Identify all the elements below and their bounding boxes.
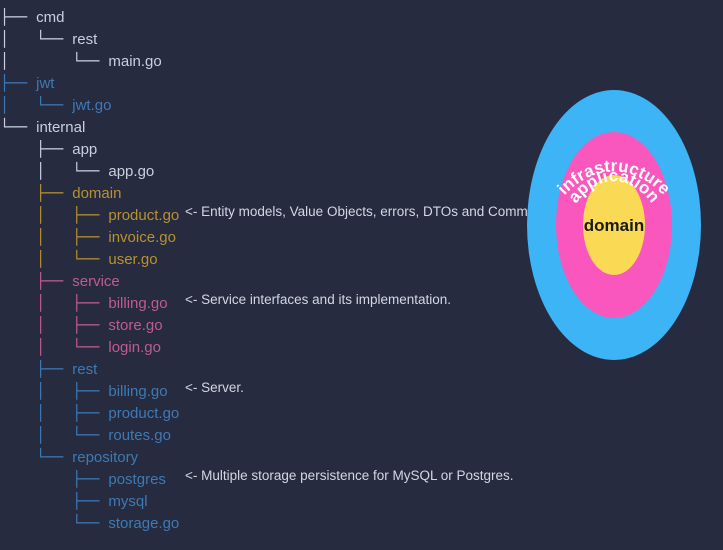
tree-node-label[interactable]: user.go: [108, 249, 157, 271]
tree-node-label[interactable]: product.go: [108, 403, 179, 425]
ring-label-domain: domain: [584, 216, 644, 235]
tree-row-line: │ └── rest: [0, 28, 540, 50]
tree-row-line: │ └── login.go: [0, 336, 540, 358]
tree-row-line: │ ├── product.go: [0, 402, 540, 424]
tree-node-label[interactable]: storage.go: [108, 513, 179, 535]
tree-branch-connector: │ └──: [0, 160, 108, 182]
tree-node-label[interactable]: mysql: [108, 491, 147, 513]
tree-row-line: │ ├── store.go: [0, 314, 540, 336]
tree-branch-connector: └──: [0, 116, 36, 138]
tree-row: │ └── user.go: [0, 248, 540, 270]
tree-row-line: │ ├── product.go: [0, 204, 540, 226]
tree-row-line: ├── service: [0, 270, 540, 292]
diagram-canvas: ├── cmd│ └── rest│ └── main.go├── jwt│ └…: [0, 0, 723, 550]
tree-row-line: │ └── main.go: [0, 50, 540, 72]
tree-row: │ └── routes.go: [0, 424, 540, 446]
onion-architecture-diagram: infrastructure application domain: [505, 55, 723, 375]
tree-row-line: ├── postgres: [0, 468, 540, 490]
tree-branch-connector: └──: [0, 512, 108, 534]
tree-node-label[interactable]: cmd: [36, 7, 64, 29]
tree-row-line: ├── domain: [0, 182, 540, 204]
tree-row-line: │ ├── invoice.go: [0, 226, 540, 248]
tree-row: └── storage.go: [0, 512, 540, 534]
tree-branch-connector: │ └──: [0, 424, 108, 446]
tree-branch-connector: │ └──: [0, 94, 72, 116]
tree-row: ├── cmd: [0, 6, 540, 28]
tree-branch-connector: │ ├──: [0, 314, 108, 336]
tree-node-label[interactable]: main.go: [108, 51, 161, 73]
tree-branch-connector: │ ├──: [0, 380, 108, 402]
tree-branch-connector: ├──: [0, 6, 36, 28]
tree-row: │ └── login.go: [0, 336, 540, 358]
tree-row: └── internal: [0, 116, 540, 138]
tree-row: ├── jwt: [0, 72, 540, 94]
tree-row: │ └── app.go: [0, 160, 540, 182]
tree-row-line: └── storage.go: [0, 512, 540, 534]
tree-row: │ └── main.go: [0, 50, 540, 72]
tree-branch-connector: │ └──: [0, 248, 108, 270]
tree-branch-connector: ├──: [0, 72, 36, 94]
tree-row-line: ├── jwt: [0, 72, 540, 94]
tree-row-line: │ └── user.go: [0, 248, 540, 270]
tree-row: ├── postgres: [0, 468, 540, 490]
tree-branch-connector: │ ├──: [0, 226, 108, 248]
tree-branch-connector: ├──: [0, 358, 72, 380]
tree-row: ├── app: [0, 138, 540, 160]
tree-row: ├── domain<- Entity models, Value Object…: [0, 182, 540, 204]
tree-node-label[interactable]: postgres: [108, 469, 166, 491]
tree-node-label[interactable]: login.go: [108, 337, 161, 359]
tree-row-line: └── internal: [0, 116, 540, 138]
tree-branch-connector: ├──: [0, 182, 72, 204]
tree-row: │ ├── invoice.go: [0, 226, 540, 248]
tree-node-label[interactable]: domain: [72, 183, 121, 205]
tree-branch-connector: │ └──: [0, 28, 72, 50]
tree-row: │ ├── billing.go: [0, 292, 540, 314]
tree-node-label[interactable]: rest: [72, 29, 97, 51]
tree-row: ├── rest<- Server.: [0, 358, 540, 380]
tree-branch-connector: │ ├──: [0, 292, 108, 314]
tree-node-label[interactable]: app: [72, 139, 97, 161]
tree-branch-connector: └──: [0, 446, 72, 468]
tree-row-line: │ └── jwt.go: [0, 94, 540, 116]
tree-row-line: ├── mysql: [0, 490, 540, 512]
tree-node-label[interactable]: billing.go: [108, 293, 167, 315]
tree-row: ├── mysql: [0, 490, 540, 512]
tree-row: │ ├── product.go: [0, 204, 540, 226]
tree-branch-connector: │ └──: [0, 50, 108, 72]
tree-row-line: ├── rest: [0, 358, 540, 380]
tree-node-label[interactable]: store.go: [108, 315, 162, 337]
tree-row-line: │ └── app.go: [0, 160, 540, 182]
tree-row: │ ├── product.go: [0, 402, 540, 424]
tree-row-line: └── repository: [0, 446, 540, 468]
tree-branch-connector: ├──: [0, 490, 108, 512]
tree-branch-connector: │ ├──: [0, 402, 108, 424]
tree-node-label[interactable]: billing.go: [108, 381, 167, 403]
tree-row: │ ├── store.go: [0, 314, 540, 336]
tree-node-label[interactable]: jwt: [36, 73, 54, 95]
tree-node-label[interactable]: jwt.go: [72, 95, 111, 117]
tree-row-line: │ └── routes.go: [0, 424, 540, 446]
tree-row-line: ├── app: [0, 138, 540, 160]
tree-branch-connector: ├──: [0, 138, 72, 160]
tree-node-label[interactable]: internal: [36, 117, 85, 139]
tree-branch-connector: │ ├──: [0, 204, 108, 226]
tree-row-line: │ ├── billing.go: [0, 380, 540, 402]
tree-node-label[interactable]: app.go: [108, 161, 154, 183]
tree-node-label[interactable]: product.go: [108, 205, 179, 227]
tree-row-line: ├── cmd: [0, 6, 540, 28]
tree-node-label[interactable]: repository: [72, 447, 138, 469]
tree-node-label[interactable]: rest: [72, 359, 97, 381]
project-file-tree: ├── cmd│ └── rest│ └── main.go├── jwt│ └…: [0, 0, 540, 534]
tree-row: └── repository<- Multiple storage persis…: [0, 446, 540, 468]
tree-branch-connector: ├──: [0, 270, 72, 292]
tree-row: │ └── jwt.go: [0, 94, 540, 116]
tree-node-label[interactable]: service: [72, 271, 120, 293]
tree-node-label[interactable]: invoice.go: [108, 227, 176, 249]
tree-row: ├── service<- Service interfaces and its…: [0, 270, 540, 292]
tree-branch-connector: ├──: [0, 468, 108, 490]
tree-row: │ └── rest: [0, 28, 540, 50]
tree-row: │ ├── billing.go: [0, 380, 540, 402]
tree-node-label[interactable]: routes.go: [108, 425, 171, 447]
tree-branch-connector: │ └──: [0, 336, 108, 358]
tree-row-line: │ ├── billing.go: [0, 292, 540, 314]
